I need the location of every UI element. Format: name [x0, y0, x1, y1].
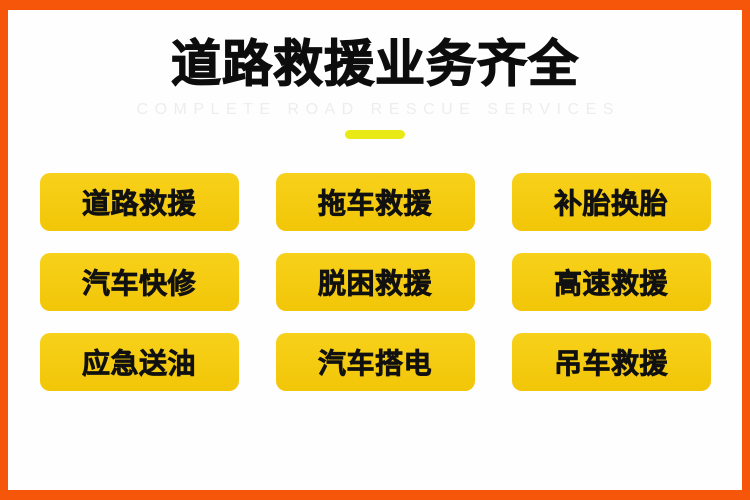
service-button-label: 汽车搭电	[318, 342, 432, 382]
page-title: 道路救援业务齐全	[8, 38, 742, 91]
service-button-label: 补胎换胎	[554, 182, 668, 222]
service-button-label: 高速救援	[554, 262, 668, 302]
service-button-label: 拖车救援	[318, 182, 432, 222]
service-button-label: 道路救援	[82, 182, 196, 222]
service-button-tow-rescue[interactable]: 拖车救援	[276, 173, 475, 231]
service-button-label: 吊车救援	[554, 342, 668, 382]
service-button-tire-repair[interactable]: 补胎换胎	[512, 173, 711, 231]
service-row: 应急送油 汽车搭电 吊车救援	[40, 333, 711, 391]
service-button-label: 脱困救援	[318, 262, 432, 302]
service-button-highway-rescue[interactable]: 高速救援	[512, 253, 711, 311]
banner-header: 道路救援业务齐全 COMPLETE ROAD RESCUE SERVICES	[8, 10, 742, 139]
promo-banner: 道路救援业务齐全 COMPLETE ROAD RESCUE SERVICES 道…	[0, 0, 750, 500]
service-row: 道路救援 拖车救援 补胎换胎	[40, 173, 711, 231]
service-button-crane-rescue[interactable]: 吊车救援	[512, 333, 711, 391]
title-divider	[345, 130, 405, 139]
service-button-emergency-fuel[interactable]: 应急送油	[40, 333, 239, 391]
service-button-quick-repair[interactable]: 汽车快修	[40, 253, 239, 311]
banner-canvas: 道路救援业务齐全 COMPLETE ROAD RESCUE SERVICES 道…	[8, 10, 742, 490]
service-button-road-rescue[interactable]: 道路救援	[40, 173, 239, 231]
service-button-label: 应急送油	[82, 342, 196, 382]
service-button-jump-start[interactable]: 汽车搭电	[276, 333, 475, 391]
service-row: 汽车快修 脱困救援 高速救援	[40, 253, 711, 311]
service-button-extrication[interactable]: 脱困救援	[276, 253, 475, 311]
page-subtitle: COMPLETE ROAD RESCUE SERVICES	[8, 101, 742, 119]
service-button-label: 汽车快修	[82, 262, 196, 302]
service-grid: 道路救援 拖车救援 补胎换胎 汽车快修 脱困救援 高速救援	[8, 173, 742, 391]
divider-wrapper	[8, 130, 742, 139]
